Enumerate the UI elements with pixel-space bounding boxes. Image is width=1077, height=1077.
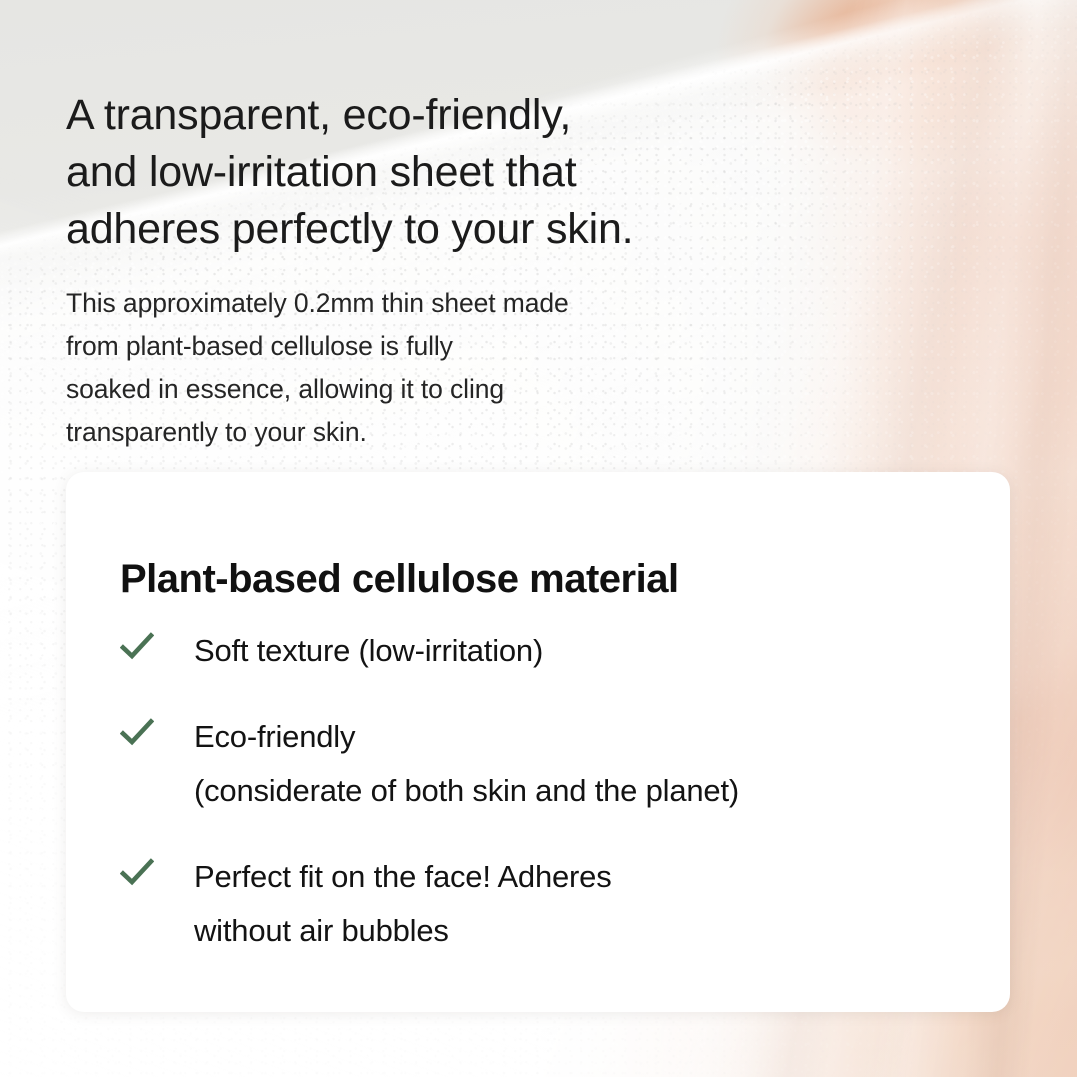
check-icon [120,716,154,750]
feature-item: Soft texture (low-irritation) [120,624,980,678]
hero-subcopy: This approximately 0.2mm thin sheet made… [66,282,746,454]
feature-text: Soft texture (low-irritation) [194,624,543,678]
panel-content: A transparent, eco-friendly, and low-irr… [0,0,1077,1077]
card-title: Plant-based cellulose material [120,555,679,603]
product-feature-panel: A transparent, eco-friendly, and low-irr… [0,0,1077,1077]
feature-card: Plant-based cellulose material Soft text… [66,472,1010,1012]
check-icon [120,630,154,664]
feature-text: Perfect fit on the face! Adheres without… [194,850,612,958]
hero-headline: A transparent, eco-friendly, and low-irr… [66,87,766,258]
feature-item: Eco-friendly (considerate of both skin a… [120,710,980,818]
feature-text: Eco-friendly (considerate of both skin a… [194,710,739,818]
feature-list: Soft texture (low-irritation) Eco-friend… [120,624,980,958]
feature-item: Perfect fit on the face! Adheres without… [120,850,980,958]
check-icon [120,856,154,890]
